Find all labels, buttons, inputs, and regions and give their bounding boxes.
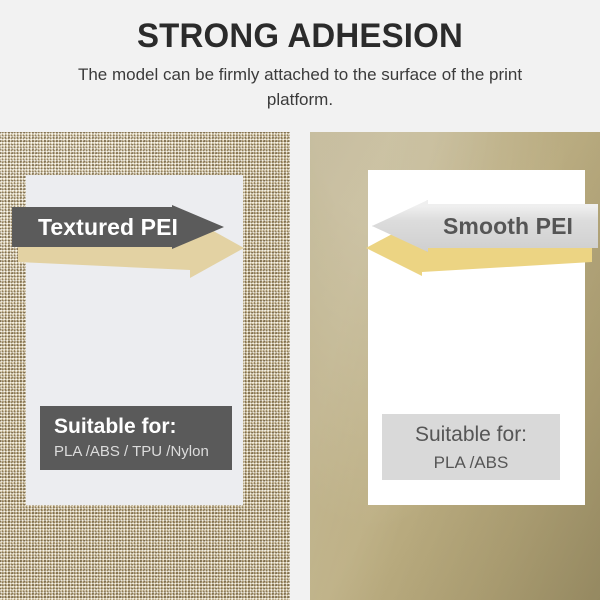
smooth-pei-suitable-heading: Suitable for: [382, 420, 560, 450]
page-subtitle: The model can be firmly attached to the … [60, 62, 540, 112]
header-band: STRONG ADHESION The model can be firmly … [0, 0, 600, 132]
textured-pei-arrow-banner: Textured PEI [12, 200, 244, 282]
textured-pei-arrow-label: Textured PEI [12, 205, 190, 249]
textured-pei-suitable-heading: Suitable for: [54, 414, 232, 440]
smooth-pei-suitable-materials: PLA /ABS [382, 450, 560, 476]
smooth-pei-arrow-label: Smooth PEI [418, 202, 598, 250]
infographic-canvas: Textured PEI Make the bottom of the prod… [0, 0, 600, 600]
textured-pei-suitable-box: Suitable for: PLA /ABS / TPU /Nylon [40, 406, 232, 470]
page-title: STRONG ADHESION [9, 16, 591, 56]
smooth-pei-suitable-box: Suitable for: PLA /ABS [382, 414, 560, 480]
smooth-pei-arrow-banner: Smooth PEI [366, 196, 598, 282]
textured-pei-suitable-materials: PLA /ABS / TPU /Nylon [54, 440, 232, 464]
